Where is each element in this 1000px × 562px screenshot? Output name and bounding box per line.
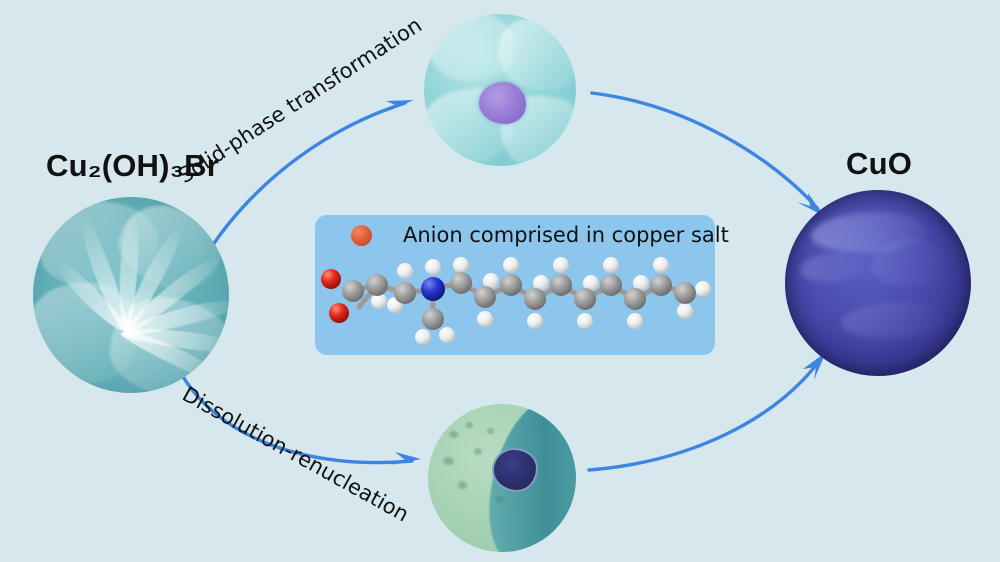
reaction-pathway-figure: Cu₂(OH)₃Br C <box>0 0 1000 562</box>
micrograph-precursor <box>33 197 229 393</box>
betaine-molecule-diagram <box>315 241 715 353</box>
intermediate-texture <box>424 14 576 166</box>
precursor-texture <box>33 197 229 393</box>
page-title-product: CuO <box>846 146 912 182</box>
micrograph-product <box>785 190 971 376</box>
product-texture <box>785 190 971 376</box>
nucleated-texture <box>428 404 576 552</box>
micrograph-intermediate <box>424 14 576 166</box>
micrograph-nucleated <box>428 404 576 552</box>
anion-molecule-panel: Anion comprised in copper salt <box>315 215 715 355</box>
nitrogen-atom <box>421 277 445 301</box>
